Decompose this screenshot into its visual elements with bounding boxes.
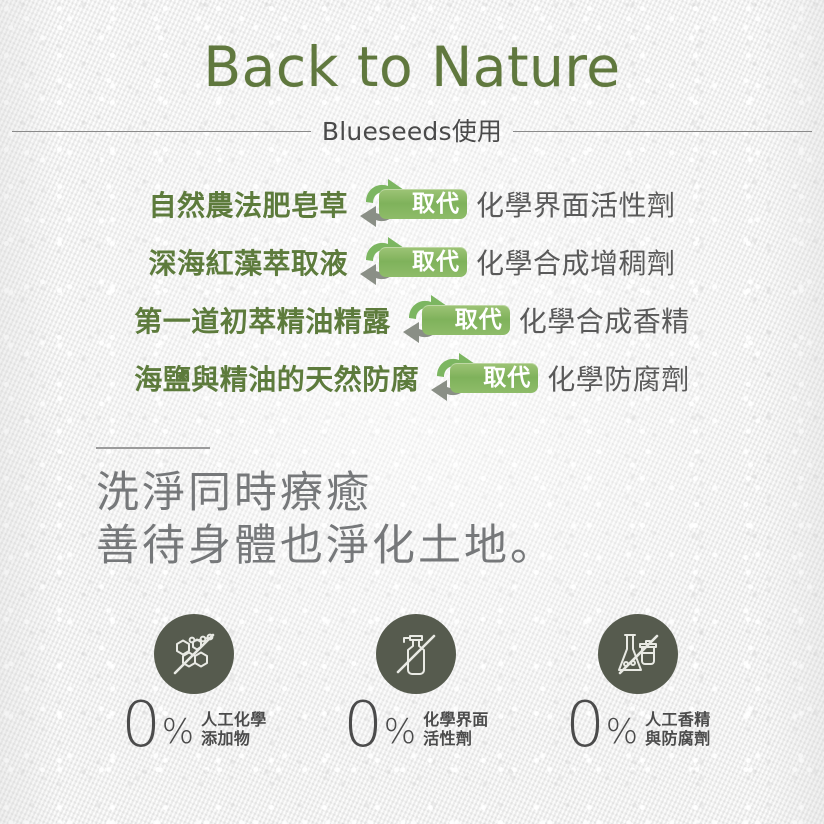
replace-pill: 取代	[422, 305, 510, 335]
replacement-row: 海鹽與精油的天然防腐 取代 化學防腐劑	[0, 349, 824, 407]
claim-label-line-1: 人工化學	[201, 710, 267, 730]
natural-ingredient-label: 第一道初萃精油精露	[134, 300, 391, 340]
zero-percent-claims: 0 % 人工化學 添加物	[0, 614, 824, 753]
flask-jar-no-icon	[610, 626, 666, 682]
claim-value: 0	[343, 696, 382, 753]
replacement-row: 第一道初萃精油精露 取代 化學合成香精	[0, 291, 824, 349]
claim-value: 0	[565, 696, 604, 753]
replace-badge: 取代	[426, 355, 538, 401]
claim-item: 0 % 人工化學 添加物	[89, 614, 299, 753]
claim-unit: %	[606, 715, 638, 749]
claim-disc	[376, 614, 456, 694]
claim-value: 0	[121, 696, 160, 753]
chemical-ingredient-label: 化學合成增稠劑	[476, 242, 676, 282]
poster-canvas: Back to Nature Blueseeds使用 自然農法肥皂草 取代	[0, 0, 824, 824]
claim-value-row: 0 % 人工香精 與防腐劑	[565, 696, 710, 753]
replacement-list: 自然農法肥皂草 取代 化學界面活性劑 深海紅藻萃取液	[0, 175, 824, 407]
natural-ingredient-label: 深海紅藻萃取液	[148, 242, 348, 282]
tagline-line-1: 洗淨同時療癒	[96, 467, 824, 520]
replacement-row: 深海紅藻萃取液 取代 化學合成增稠劑	[0, 233, 824, 291]
claim-item: 0 % 化學界面 活性劑	[311, 614, 521, 753]
claim-label: 人工化學 添加物	[201, 710, 267, 749]
replace-badge: 取代	[355, 181, 467, 227]
divider-line-right	[513, 131, 812, 132]
claim-unit: %	[162, 715, 194, 749]
chemical-ingredient-label: 化學界面活性劑	[476, 184, 676, 224]
claim-disc	[598, 614, 678, 694]
tagline-divider	[96, 447, 210, 449]
replace-pill: 取代	[379, 247, 467, 277]
replacement-row: 自然農法肥皂草 取代 化學界面活性劑	[0, 175, 824, 233]
divider-line-left	[12, 131, 311, 132]
natural-ingredient-label: 海鹽與精油的天然防腐	[134, 358, 419, 398]
replace-badge: 取代	[398, 297, 510, 343]
replace-pill-label: 取代	[412, 193, 460, 216]
claim-label: 化學界面 活性劑	[423, 710, 489, 749]
replace-badge: 取代	[355, 239, 467, 285]
tagline: 洗淨同時療癒 善待身體也淨化土地。	[96, 467, 824, 574]
claim-value-row: 0 % 化學界面 活性劑	[343, 696, 488, 753]
page-title: Back to Nature	[0, 0, 824, 95]
replace-pill: 取代	[379, 189, 467, 219]
claim-label-line-2: 添加物	[201, 729, 267, 749]
replace-pill-label: 取代	[412, 251, 460, 274]
claim-label-line-1: 人工香精	[645, 710, 711, 730]
subtitle-divider-row: Blueseeds使用	[0, 113, 824, 149]
tagline-line-2: 善待身體也淨化土地。	[96, 520, 824, 573]
spray-bottle-no-icon	[388, 626, 444, 682]
replace-pill-label: 取代	[455, 309, 503, 332]
claim-item: 0 % 人工香精 與防腐劑	[533, 614, 743, 753]
claim-unit: %	[384, 715, 416, 749]
brand-subtitle: Blueseeds使用	[311, 112, 513, 148]
claim-label: 人工香精 與防腐劑	[645, 710, 711, 749]
claim-disc	[154, 614, 234, 694]
chemical-ingredient-label: 化學防腐劑	[547, 358, 690, 398]
claim-label-line-2: 活性劑	[423, 729, 489, 749]
claim-label-line-2: 與防腐劑	[645, 729, 711, 749]
claim-value-row: 0 % 人工化學 添加物	[121, 696, 266, 753]
claim-label-line-1: 化學界面	[423, 710, 489, 730]
replace-pill: 取代	[450, 363, 538, 393]
natural-ingredient-label: 自然農法肥皂草	[148, 184, 348, 224]
chemical-ingredient-label: 化學合成香精	[519, 300, 690, 340]
molecule-hexagons-no-icon	[166, 626, 222, 682]
replace-pill-label: 取代	[483, 367, 531, 390]
